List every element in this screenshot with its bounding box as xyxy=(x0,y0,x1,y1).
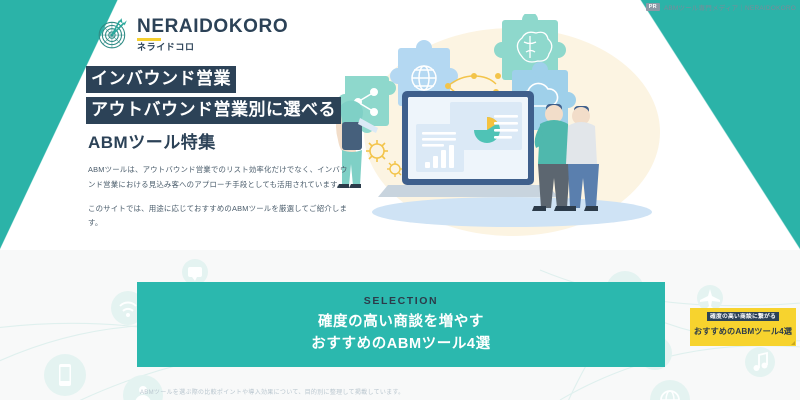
badge-main-label: おすすめのABMツール4選 xyxy=(694,325,792,337)
recommendation-badge[interactable]: 確度の高い商談に繋がる おすすめのABMツール4選 xyxy=(690,308,796,346)
floor-shadow xyxy=(372,197,652,227)
bottom-description: ABMツールを選ぶ際の比較ポイントや導入効果について、目的別に整理して掲載してい… xyxy=(140,387,670,396)
badge-corner-fold xyxy=(791,341,795,345)
headline-line-1: インバウンド営業 xyxy=(86,66,236,93)
media-credit-text: ABMツール専門メディア｜NERAIDOKORO xyxy=(664,2,796,12)
headline-row-3: ABMツール特集 xyxy=(86,128,341,154)
headline-line-3: ABMツール特集 xyxy=(86,130,218,154)
headline-line-2: アウトバウンド営業別に選べる xyxy=(86,97,341,124)
logo-text-block: NERAIDOKORO ネライドコロ xyxy=(137,17,288,52)
pr-disclosure-bar: PR ABMツール専門メディア｜NERAIDOKORO xyxy=(646,2,796,12)
hero-paragraph-2: このサイトでは、用途に応じておすすめのABMツールを厳選してご紹介します。 xyxy=(88,202,353,232)
site-logo[interactable]: NERAIDOKORO ネライドコロ xyxy=(96,17,288,52)
pr-badge: PR xyxy=(646,3,660,11)
logo-name: NERAIDOKORO xyxy=(137,17,288,36)
laptop-device xyxy=(378,91,558,197)
target-arrow-icon xyxy=(96,17,130,51)
bottom-text-strip: ABMツールを選ぶ際の比較ポイントや導入効果について、目的別に整理して掲載してい… xyxy=(0,386,800,400)
selection-line-1: 確度の高い商談を増やす xyxy=(318,312,484,334)
logo-underline xyxy=(137,38,161,41)
hero-section: PR ABMツール専門メディア｜NERAIDOKORO xyxy=(0,0,800,250)
abm-dashboard-illustration xyxy=(330,14,730,242)
selection-line-2: おすすめのABMツール4選 xyxy=(311,334,490,356)
smartphone-icon xyxy=(59,364,71,386)
headline-row-1: インバウンド営業 xyxy=(86,66,341,93)
selection-kicker: SELECTION xyxy=(364,295,439,307)
landing-page: PR ABMツール専門メディア｜NERAIDOKORO xyxy=(0,0,800,400)
selection-banner: SELECTION 確度の高い商談を増やす おすすめのABMツール4選 xyxy=(137,282,665,367)
dashboard-card-left xyxy=(416,124,464,172)
hero-headline: インバウンド営業 アウトバウンド営業別に選べる ABMツール特集 xyxy=(86,66,341,158)
selection-section: SELECTION 確度の高い商談を増やす おすすめのABMツール4選 xyxy=(0,250,800,400)
hero-body-copy: ABMツールは、アウトバウンド営業でのリスト効率化だけでなく、インバウンド営業に… xyxy=(88,163,353,231)
headline-row-2: アウトバウンド営業別に選べる xyxy=(86,97,341,124)
hero-paragraph-1: ABMツールは、アウトバウンド営業でのリスト効率化だけでなく、インバウンド営業に… xyxy=(88,163,353,193)
logo-name-jp: ネライドコロ xyxy=(137,43,288,52)
badge-top-label: 確度の高い商談に繋がる xyxy=(707,312,779,321)
